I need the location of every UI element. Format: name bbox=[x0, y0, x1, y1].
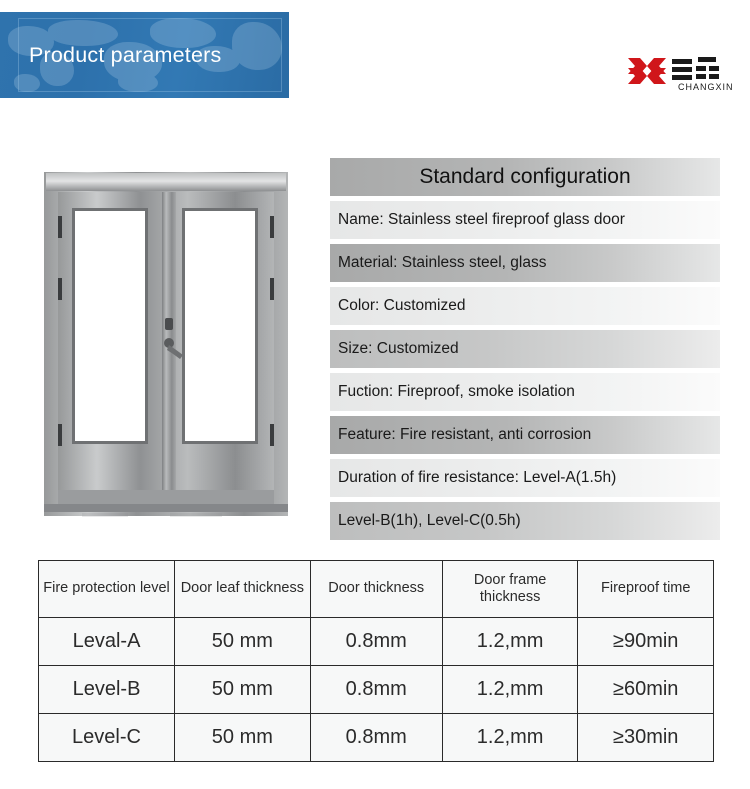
standard-configuration-panel: Standard configuration Name: Stainless s… bbox=[330, 158, 720, 545]
logo-x-mark bbox=[628, 58, 666, 84]
spec-panel-header: Standard configuration bbox=[330, 158, 720, 196]
product-parameters-banner: Product parameters bbox=[0, 12, 289, 98]
banner-title: Product parameters bbox=[29, 12, 221, 98]
cell-frame-thickness: 1.2,mm bbox=[442, 714, 578, 762]
spec-row-name: Name: Stainless steel fireproof glass do… bbox=[330, 201, 720, 239]
spec-row-color: Color: Customized bbox=[330, 287, 720, 325]
th-fireproof-time: Fireproof time bbox=[578, 561, 714, 618]
table-row: Leval-A 50 mm 0.8mm 1.2,mm ≥90min bbox=[39, 618, 714, 666]
spec-row-fuction: Fuction: Fireproof, smoke isolation bbox=[330, 373, 720, 411]
spec-row-duration: Duration of fire resistance: Level-A(1.5… bbox=[330, 459, 720, 497]
th-door-frame-thickness: Door frame thickness bbox=[442, 561, 578, 618]
spec-row-size: Size: Customized bbox=[330, 330, 720, 368]
fire-rating-table: Fire protection level Door leaf thicknes… bbox=[38, 560, 714, 762]
cell-fireproof-time: ≥60min bbox=[578, 666, 714, 714]
cell-level: Level-C bbox=[39, 714, 175, 762]
cell-frame-thickness: 1.2,mm bbox=[442, 666, 578, 714]
cell-fireproof-time: ≥90min bbox=[578, 618, 714, 666]
cell-leaf-thickness: 50 mm bbox=[175, 714, 311, 762]
cell-fireproof-time: ≥30min bbox=[578, 714, 714, 762]
table-row: Level-B 50 mm 0.8mm 1.2,mm ≥60min bbox=[39, 666, 714, 714]
logo-cn-chars bbox=[672, 57, 719, 80]
cell-level: Level-B bbox=[39, 666, 175, 714]
table-row: Level-C 50 mm 0.8mm 1.2,mm ≥30min bbox=[39, 714, 714, 762]
product-photo-door bbox=[42, 170, 290, 518]
changxin-logo: CHANGXIN bbox=[626, 50, 734, 92]
spec-row-levels: Level-B(1h), Level-C(0.5h) bbox=[330, 502, 720, 540]
th-fire-protection-level: Fire protection level bbox=[39, 561, 175, 618]
cell-leaf-thickness: 50 mm bbox=[175, 618, 311, 666]
cell-door-thickness: 0.8mm bbox=[310, 666, 442, 714]
cell-leaf-thickness: 50 mm bbox=[175, 666, 311, 714]
cell-door-thickness: 0.8mm bbox=[310, 714, 442, 762]
th-door-leaf-thickness: Door leaf thickness bbox=[175, 561, 311, 618]
cell-door-thickness: 0.8mm bbox=[310, 618, 442, 666]
spec-row-feature: Feature: Fire resistant, anti corrosion bbox=[330, 416, 720, 454]
logo-brand-latin: CHANGXIN bbox=[678, 82, 734, 92]
cell-level: Leval-A bbox=[39, 618, 175, 666]
th-door-thickness: Door thickness bbox=[310, 561, 442, 618]
spec-row-material: Material: Stainless steel, glass bbox=[330, 244, 720, 282]
cell-frame-thickness: 1.2,mm bbox=[442, 618, 578, 666]
table-header-row: Fire protection level Door leaf thicknes… bbox=[39, 561, 714, 618]
